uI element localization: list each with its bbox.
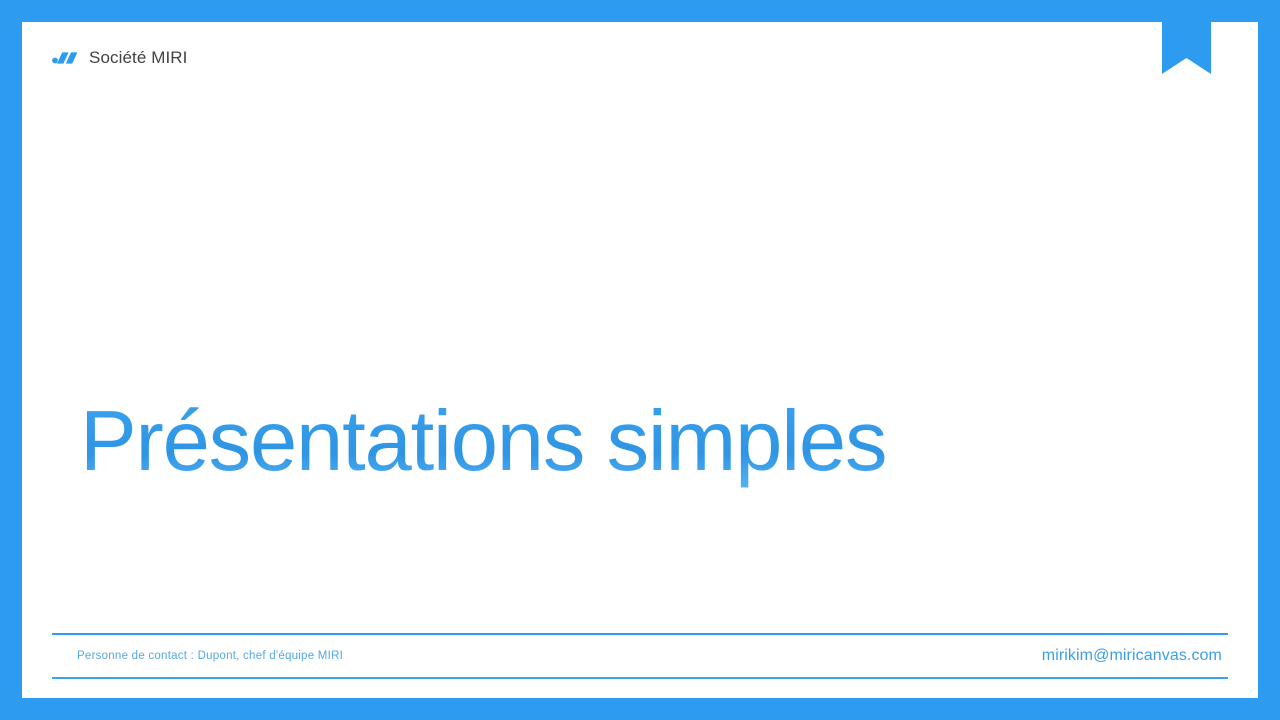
contact-email-link[interactable]: mirikim@miricanvas.com <box>1042 647 1228 665</box>
brand-name: Société MIRI <box>89 48 188 68</box>
miri-double-slash-logo-icon <box>52 51 80 65</box>
slide-canvas: Société MIRI Présentations simples Perso… <box>22 22 1258 698</box>
slide-frame: Société MIRI Présentations simples Perso… <box>0 0 1280 720</box>
contact-person-label: Personne de contact : Dupont, chef d'équ… <box>77 650 343 662</box>
footer-divider-bottom <box>52 677 1228 679</box>
brand-lockup: Société MIRI <box>52 44 188 72</box>
footer: Personne de contact : Dupont, chef d'équ… <box>52 633 1228 688</box>
page-title: Présentations simples <box>80 396 1180 488</box>
